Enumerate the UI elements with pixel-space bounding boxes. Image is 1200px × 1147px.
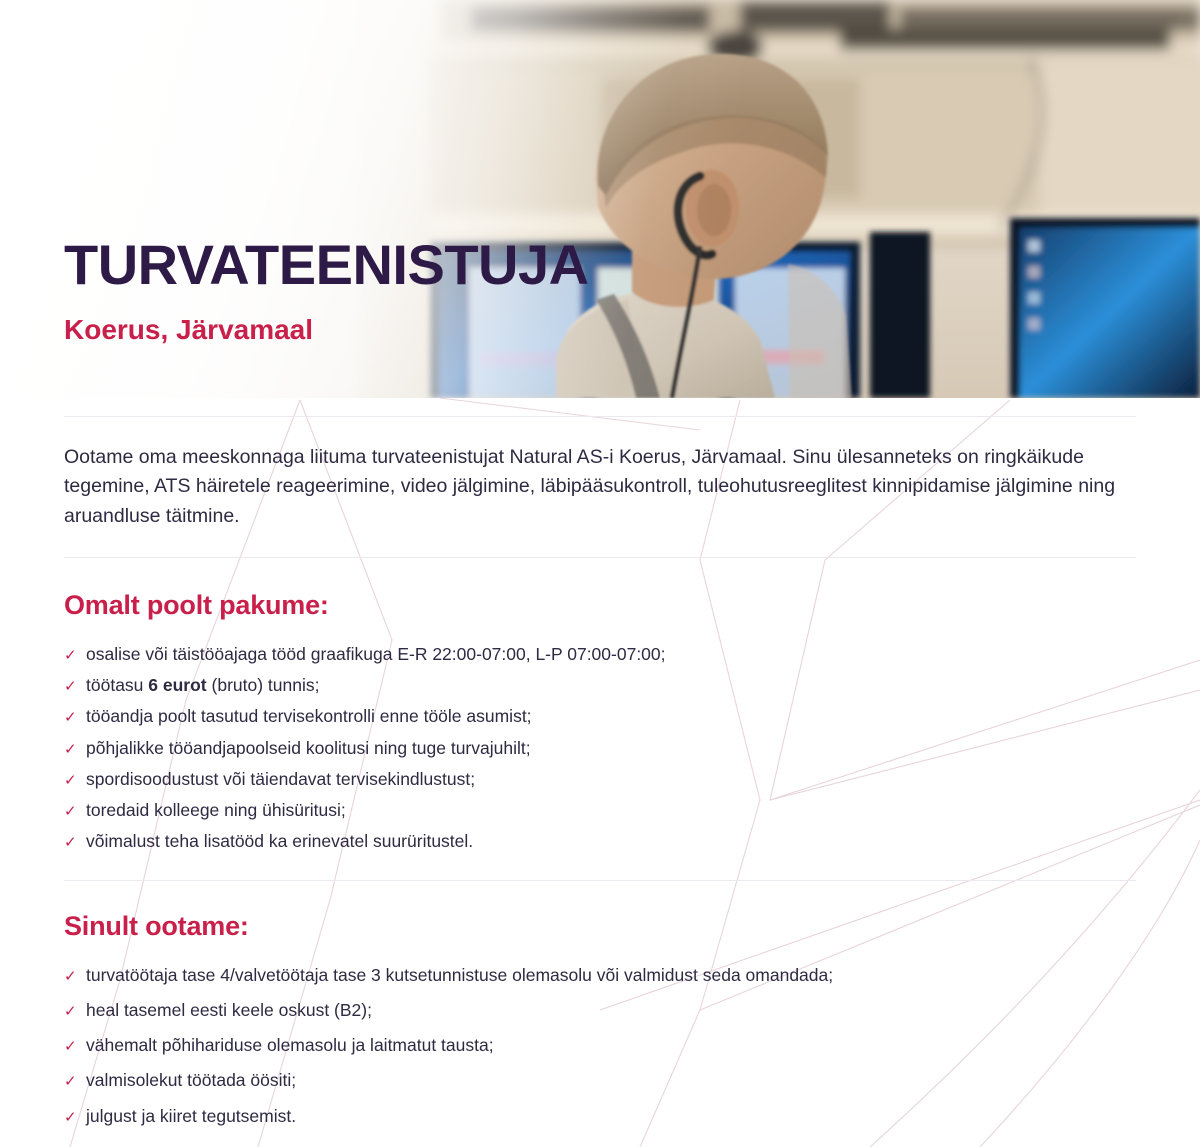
check-icon: ✓ (64, 771, 86, 791)
list-item: ✓julgust ja kiiret tegutsemist. (64, 1105, 1136, 1128)
list-item-label: võimalust teha lisatööd ka erinevatel su… (86, 830, 473, 853)
list-item: ✓vähemalt põhihariduse olemasolu ja lait… (64, 1034, 1136, 1057)
list-item: ✓osalise või täistööajaga tööd graafikug… (64, 643, 1136, 666)
divider-top (64, 416, 1136, 417)
check-icon: ✓ (64, 1002, 86, 1022)
section-title-offer: Omalt poolt pakume: (64, 590, 1136, 621)
list-item: ✓töötasu 6 eurot (bruto) tunnis; (64, 674, 1136, 697)
list-item-label: toredaid kolleege ning ühisüritusi; (86, 799, 346, 822)
section-offer: Omalt poolt pakume: ✓osalise või täistöö… (64, 590, 1136, 854)
expectations-bullet-list: ✓turvatöötaja tase 4/valvetöötaja tase 3… (64, 964, 1136, 1128)
list-item: ✓toredaid kolleege ning ühisüritusi; (64, 799, 1136, 822)
list-item: ✓turvatöötaja tase 4/valvetöötaja tase 3… (64, 964, 1136, 987)
list-item-label: heal tasemel eesti keele oskust (B2); (86, 999, 372, 1022)
check-icon: ✓ (64, 708, 86, 728)
check-icon: ✓ (64, 646, 86, 666)
list-item-label: spordisoodustust või täiendavat tervisek… (86, 768, 475, 791)
list-item-label: julgust ja kiiret tegutsemist. (86, 1105, 296, 1128)
list-item: ✓võimalust teha lisatööd ka erinevatel s… (64, 830, 1136, 853)
offer-bullet-list: ✓osalise või täistööajaga tööd graafikug… (64, 643, 1136, 854)
list-item: ✓spordisoodustust või täiendavat tervise… (64, 768, 1136, 791)
check-icon: ✓ (64, 833, 86, 853)
check-icon: ✓ (64, 677, 86, 697)
divider-after-offer (64, 880, 1136, 881)
list-item-label: tööandja poolt tasutud tervisekontrolli … (86, 705, 532, 728)
list-item-label: põhjalikke tööandjapoolseid koolitusi ni… (86, 737, 531, 760)
list-item-label: töötasu 6 eurot (bruto) tunnis; (86, 674, 319, 697)
check-icon: ✓ (64, 967, 86, 987)
check-icon: ✓ (64, 1072, 86, 1092)
header-text-block: TURVATEENISTUJA Koerus, Järvamaal (64, 236, 589, 346)
page-subtitle-location: Koerus, Järvamaal (64, 315, 589, 346)
section-title-expectations: Sinult ootame: (64, 911, 1136, 942)
list-item-label: valmisolekut töötada öösiti; (86, 1069, 296, 1092)
check-icon: ✓ (64, 740, 86, 760)
content-area: Ootame oma meeskonnaga liituma turvateen… (0, 398, 1200, 1147)
list-item: ✓põhjalikke tööandjapoolseid koolitusi n… (64, 737, 1136, 760)
intro-paragraph: Ootame oma meeskonnaga liituma turvateen… (64, 443, 1136, 531)
list-item: ✓tööandja poolt tasutud tervisekontrolli… (64, 705, 1136, 728)
section-expectations: Sinult ootame: ✓turvatöötaja tase 4/valv… (64, 911, 1136, 1128)
list-item-label: turvatöötaja tase 4/valvetöötaja tase 3 … (86, 964, 833, 987)
list-item-emphasis: 6 eurot (148, 675, 206, 695)
check-icon: ✓ (64, 802, 86, 822)
list-item: ✓valmisolekut töötada öösiti; (64, 1069, 1136, 1092)
check-icon: ✓ (64, 1108, 86, 1128)
job-posting-page: TURVATEENISTUJA Koerus, Järvamaal Ootame… (0, 0, 1200, 1147)
page-title: TURVATEENISTUJA (64, 236, 589, 293)
divider-after-intro (64, 557, 1136, 558)
check-icon: ✓ (64, 1037, 86, 1057)
list-item: ✓heal tasemel eesti keele oskust (B2); (64, 999, 1136, 1022)
list-item-label: osalise või täistööajaga tööd graafikuga… (86, 643, 666, 666)
list-item-label: vähemalt põhihariduse olemasolu ja laitm… (86, 1034, 494, 1057)
